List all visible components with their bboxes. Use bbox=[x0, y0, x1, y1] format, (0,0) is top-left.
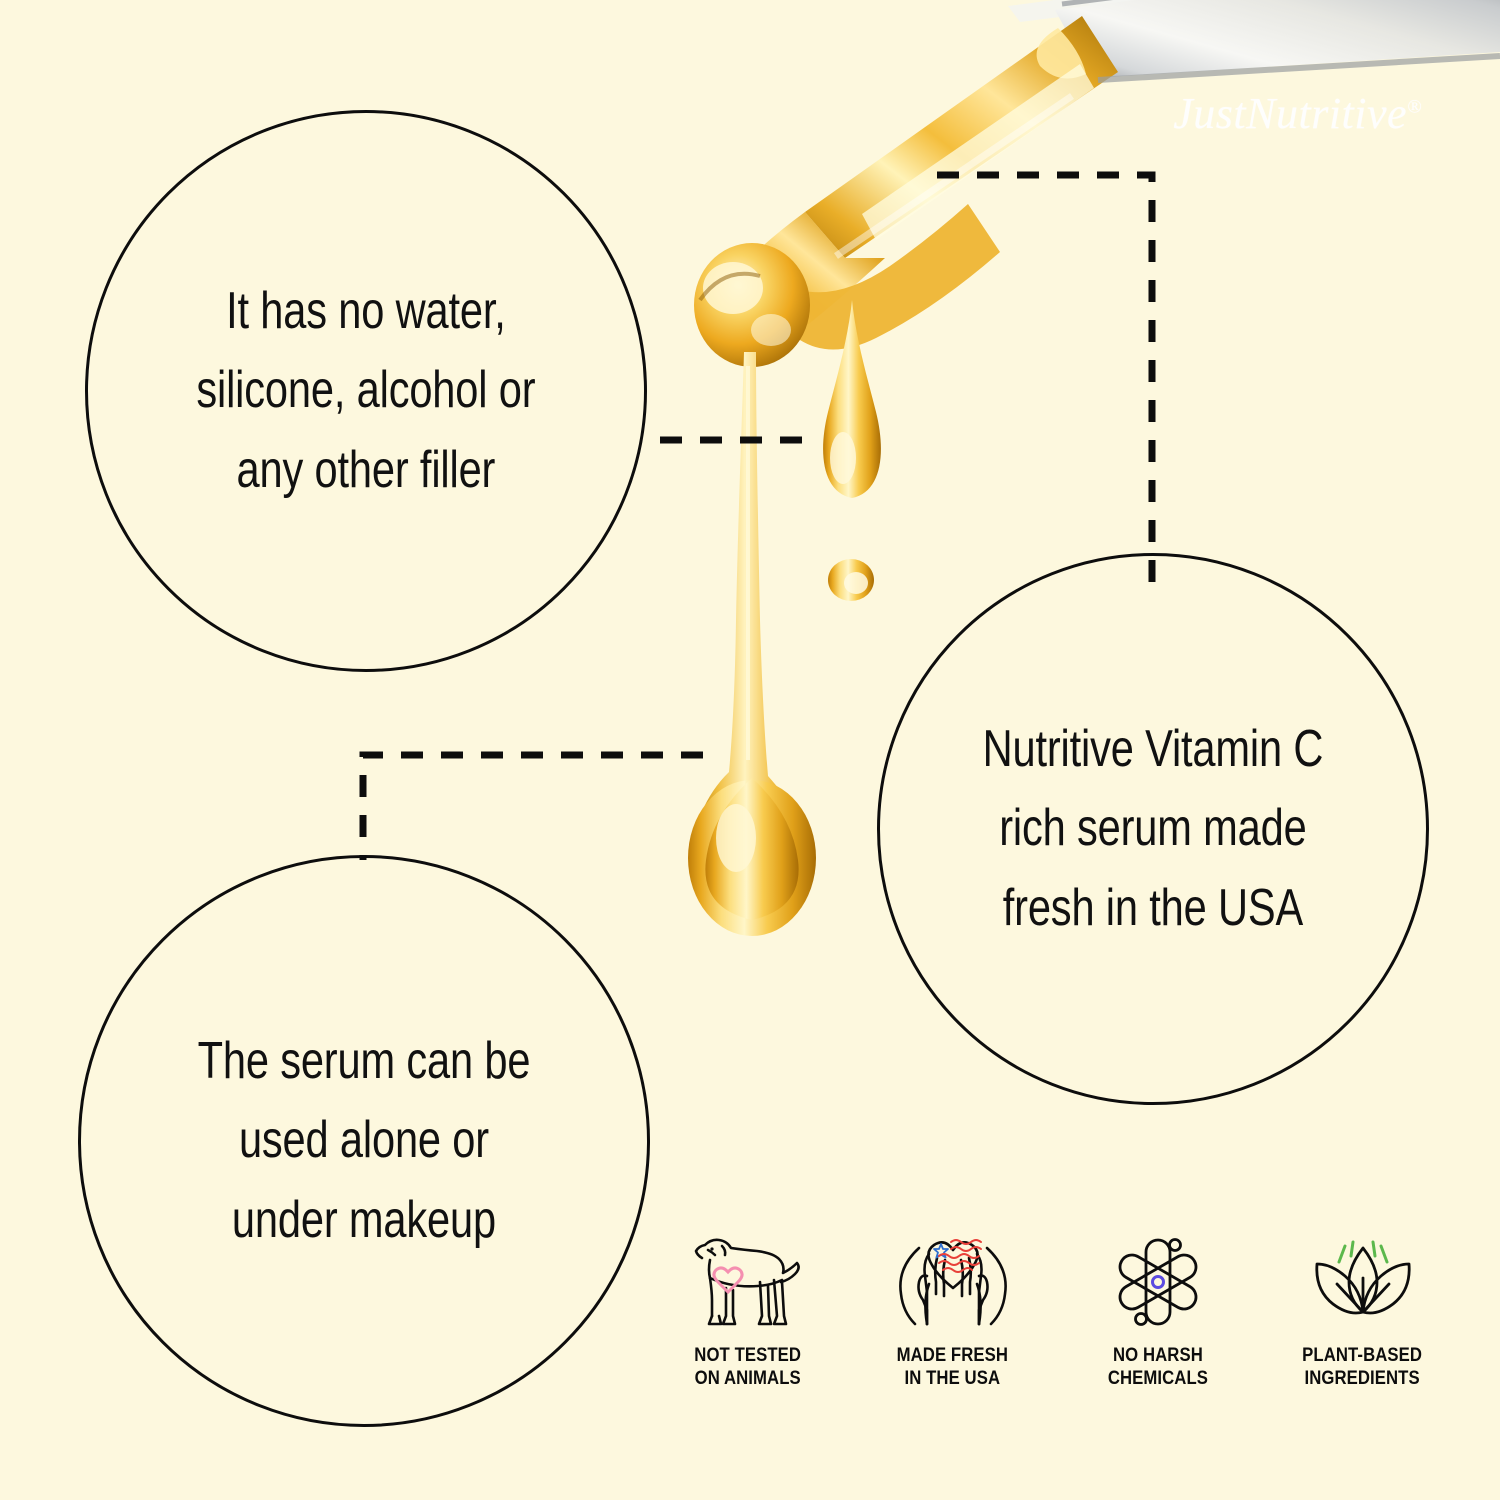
badge-label-line: IN THE USA bbox=[897, 1367, 1008, 1390]
feature-line: fresh in the USA bbox=[983, 869, 1324, 948]
badge-label-line: INGREDIENTS bbox=[1303, 1367, 1423, 1390]
registered-trademark-icon: ® bbox=[1407, 96, 1422, 117]
feature-text-vitamin-c: Nutritive Vitamin C rich serum made fres… bbox=[983, 710, 1324, 947]
badge-label-line: ON ANIMALS bbox=[694, 1367, 801, 1390]
green-sparkle-lines bbox=[1339, 1242, 1387, 1262]
feature-text-makeup: The serum can be used alone or under mak… bbox=[198, 1022, 531, 1259]
badge-not-tested-on-animals[interactable]: NOT TESTED ON ANIMALS bbox=[650, 1228, 845, 1390]
plant-leaves-icon bbox=[1303, 1228, 1423, 1332]
connector-vitamin-c bbox=[937, 175, 1152, 588]
badge-label: MADE FRESH IN THE USA bbox=[897, 1344, 1008, 1390]
feature-circle-vitamin-c[interactable]: Nutritive Vitamin C rich serum made fres… bbox=[877, 553, 1429, 1105]
badge-label-line: CHEMICALS bbox=[1107, 1367, 1207, 1390]
feature-line: Nutritive Vitamin C bbox=[983, 710, 1324, 789]
badge-label-line: PLANT-BASED bbox=[1303, 1344, 1423, 1367]
badge-plant-based-ingredients[interactable]: PLANT-BASED INGREDIENTS bbox=[1265, 1228, 1460, 1390]
trust-badges-row: NOT TESTED ON ANIMALS bbox=[650, 1228, 1460, 1418]
badge-label-line: NO HARSH bbox=[1107, 1344, 1207, 1367]
brand-logo-text: JustNutritive bbox=[1173, 89, 1407, 138]
feature-text-no-fillers: It has no water, silicone, alcohol or an… bbox=[196, 272, 535, 509]
badge-label-line: NOT TESTED bbox=[694, 1344, 801, 1367]
dog-icon bbox=[688, 1228, 808, 1332]
badge-label-line: MADE FRESH bbox=[897, 1344, 1008, 1367]
feature-line: any other filler bbox=[196, 431, 535, 510]
nucleus-icon bbox=[1152, 1277, 1163, 1288]
feature-line: The serum can be bbox=[198, 1022, 531, 1101]
feature-circle-makeup[interactable]: The serum can be used alone or under mak… bbox=[78, 855, 650, 1427]
badge-no-harsh-chemicals[interactable]: NO HARSH CHEMICALS bbox=[1060, 1228, 1255, 1390]
connector-makeup bbox=[363, 755, 703, 860]
badge-label: NOT TESTED ON ANIMALS bbox=[694, 1344, 801, 1390]
feature-line: silicone, alcohol or bbox=[196, 351, 535, 430]
feature-line: rich serum made bbox=[983, 789, 1324, 868]
hands-heart-flag-icon bbox=[893, 1228, 1013, 1332]
badge-label: NO HARSH CHEMICALS bbox=[1107, 1344, 1207, 1390]
feature-line: used alone or bbox=[198, 1101, 531, 1180]
infographic-canvas: It has no water, silicone, alcohol or an… bbox=[0, 0, 1500, 1500]
feature-line: It has no water, bbox=[196, 272, 535, 351]
badge-label: PLANT-BASED INGREDIENTS bbox=[1303, 1344, 1423, 1390]
brand-logo: JustNutritive® bbox=[1173, 88, 1422, 139]
feature-line: under makeup bbox=[198, 1181, 531, 1260]
feature-circle-no-fillers[interactable]: It has no water, silicone, alcohol or an… bbox=[85, 110, 647, 672]
atom-icon bbox=[1103, 1228, 1213, 1332]
badge-made-fresh-in-the-usa[interactable]: MADE FRESH IN THE USA bbox=[855, 1228, 1050, 1390]
